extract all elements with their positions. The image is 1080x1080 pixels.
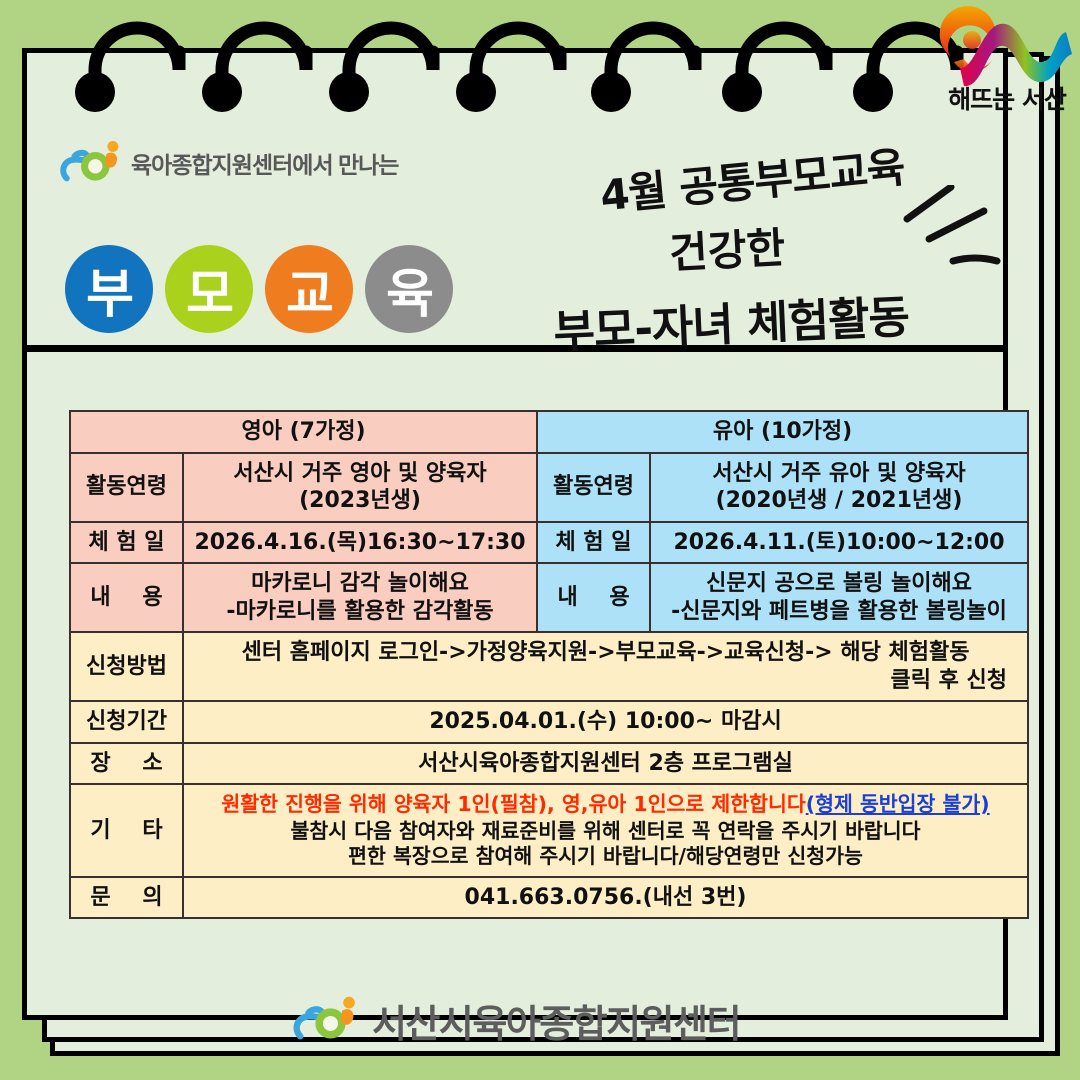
decorative-strokes-icon <box>889 185 1029 295</box>
value-etc: 원활한 진행을 위해 양육자 1인(필참), 영,유아 1인으로 제한합니다(형… <box>183 784 1028 877</box>
city-logo-name: 해뜨는 서산 <box>934 80 1080 116</box>
center-logo-row: 육아종합지원센터에서 만나는 <box>59 135 398 191</box>
label-age-toddler: 활동연령 <box>537 453 650 522</box>
bubble-bu: 부 <box>65 245 153 333</box>
etc-line2: 불참시 다음 참여자와 재료준비를 위해 센터로 꼭 연락을 주시기 바랍니다 <box>190 819 1021 845</box>
value-age-infant: 서산시 거주 영아 및 양육자 (2023년생) <box>183 453 537 522</box>
poster-stage: 육아종합지원센터에서 만나는 부 모 교 육 4월 공통부모교육 건강한 부모-… <box>0 0 1080 1080</box>
bubble-row: 부 모 교 육 <box>65 245 453 333</box>
etc-line1-warning: 원활한 진행을 위해 양육자 1인(필참), 영,유아 1인으로 제한합니다 <box>221 792 805 816</box>
value-place: 서산시육아종합지원센터 2층 프로그램실 <box>183 743 1028 785</box>
notebook-page: 육아종합지원센터에서 만나는 부 모 교 육 4월 공통부모교육 건강한 부모-… <box>22 48 1008 1020</box>
label-age-infant: 활동연령 <box>70 453 183 522</box>
header-infant: 영아 (7가정) <box>70 411 537 453</box>
label-content-toddler: 내 용 <box>537 563 650 632</box>
table-row-date: 체 험 일 2026.4.16.(목)16:30~17:30 체 험 일 202… <box>70 522 1028 564</box>
age-toddler-line1: 서산시 거주 유아 및 양육자 <box>657 460 1021 488</box>
table-row-etc: 기 타 원활한 진행을 위해 양육자 1인(필참), 영,유아 1인으로 제한합… <box>70 784 1028 877</box>
table-row-group-headers: 영아 (7가정) 유아 (10가정) <box>70 411 1028 453</box>
apply-method-line1: 센터 홈페이지 로그인->가정양육지원->부모교육->교육신청-> 해당 체험활… <box>190 639 1021 667</box>
content-toddler-line2: -신문지와 페트병을 활용한 볼링놀이 <box>657 598 1021 626</box>
value-date-toddler: 2026.4.11.(토)10:00~12:00 <box>650 522 1028 564</box>
age-infant-line1: 서산시 거주 영아 및 양육자 <box>190 460 530 488</box>
value-age-toddler: 서산시 거주 유아 및 양육자 (2020년생 / 2021년생) <box>650 453 1028 522</box>
value-apply-method: 센터 홈페이지 로그인->가정양육지원->부모교육->교육신청-> 해당 체험활… <box>183 632 1028 701</box>
sco-logo-icon <box>59 135 125 191</box>
footer-brand: 서산시육아종합지원센터 <box>27 991 1003 1049</box>
label-contact: 문 의 <box>70 877 183 919</box>
table-row-apply-period: 신청기간 2025.04.01.(수) 10:00~ 마감시 <box>70 701 1028 743</box>
table-row-content: 내 용 마카로니 감각 놀이해요 -마카로니를 활용한 감각활동 내 용 신문지… <box>70 563 1028 632</box>
table-row-place: 장 소 서산시육아종합지원센터 2층 프로그램실 <box>70 743 1028 785</box>
label-content-infant: 내 용 <box>70 563 183 632</box>
bubble-yuk: 육 <box>365 245 453 333</box>
bubble-mo: 모 <box>165 245 253 333</box>
program-info-table-wrap: 영아 (7가정) 유아 (10가정) 활동연령 서산시 거주 영아 및 양육자 … <box>69 410 1027 919</box>
value-contact: 041.663.0756.(내선 3번) <box>183 877 1028 919</box>
value-date-infant: 2026.4.16.(목)16:30~17:30 <box>183 522 537 564</box>
label-apply-period: 신청기간 <box>70 701 183 743</box>
age-toddler-line2: (2020년생 / 2021년생) <box>657 487 1021 515</box>
city-logo: 해뜨는 서산 <box>930 6 1080 118</box>
program-info-table: 영아 (7가정) 유아 (10가정) 활동연령 서산시 거주 영아 및 양육자 … <box>69 410 1029 919</box>
header-toddler: 유아 (10가정) <box>537 411 1028 453</box>
content-infant-line2: -마카로니를 활용한 감각활동 <box>190 598 530 626</box>
age-infant-line2: (2023년생) <box>190 487 530 515</box>
center-logo-caption: 육아종합지원센터에서 만나는 <box>131 146 398 180</box>
etc-line1-note: (형제 동반입장 불가) <box>806 792 990 816</box>
etc-line1: 원활한 진행을 위해 양육자 1인(필참), 영,유아 1인으로 제한합니다(형… <box>190 791 1021 819</box>
label-apply-method: 신청방법 <box>70 632 183 701</box>
apply-method-line2: 클릭 후 신청 <box>190 667 1021 695</box>
content-infant-line1: 마카로니 감각 놀이해요 <box>190 570 530 598</box>
table-row-apply-method: 신청방법 센터 홈페이지 로그인->가정양육지원->부모교육->교육신청-> 해… <box>70 632 1028 701</box>
label-place: 장 소 <box>70 743 183 785</box>
value-content-infant: 마카로니 감각 놀이해요 -마카로니를 활용한 감각활동 <box>183 563 537 632</box>
table-row-age: 활동연령 서산시 거주 영아 및 양육자 (2023년생) 활동연령 서산시 거… <box>70 453 1028 522</box>
label-etc: 기 타 <box>70 784 183 877</box>
content-toddler-line1: 신문지 공으로 볼링 놀이해요 <box>657 570 1021 598</box>
footer-center-name: 서산시육아종합지원센터 <box>372 993 740 1048</box>
value-apply-period: 2025.04.01.(수) 10:00~ 마감시 <box>183 701 1028 743</box>
bubble-gyo: 교 <box>265 245 353 333</box>
label-date-toddler: 체 험 일 <box>537 522 650 564</box>
label-date-infant: 체 험 일 <box>70 522 183 564</box>
sco-logo-icon-footer <box>290 991 364 1049</box>
table-row-contact: 문 의 041.663.0756.(내선 3번) <box>70 877 1028 919</box>
value-content-toddler: 신문지 공으로 볼링 놀이해요 -신문지와 페트병을 활용한 볼링놀이 <box>650 563 1028 632</box>
etc-line3: 편한 복장으로 참여해 주시기 바랍니다/해당연령만 신청가능 <box>190 844 1021 870</box>
